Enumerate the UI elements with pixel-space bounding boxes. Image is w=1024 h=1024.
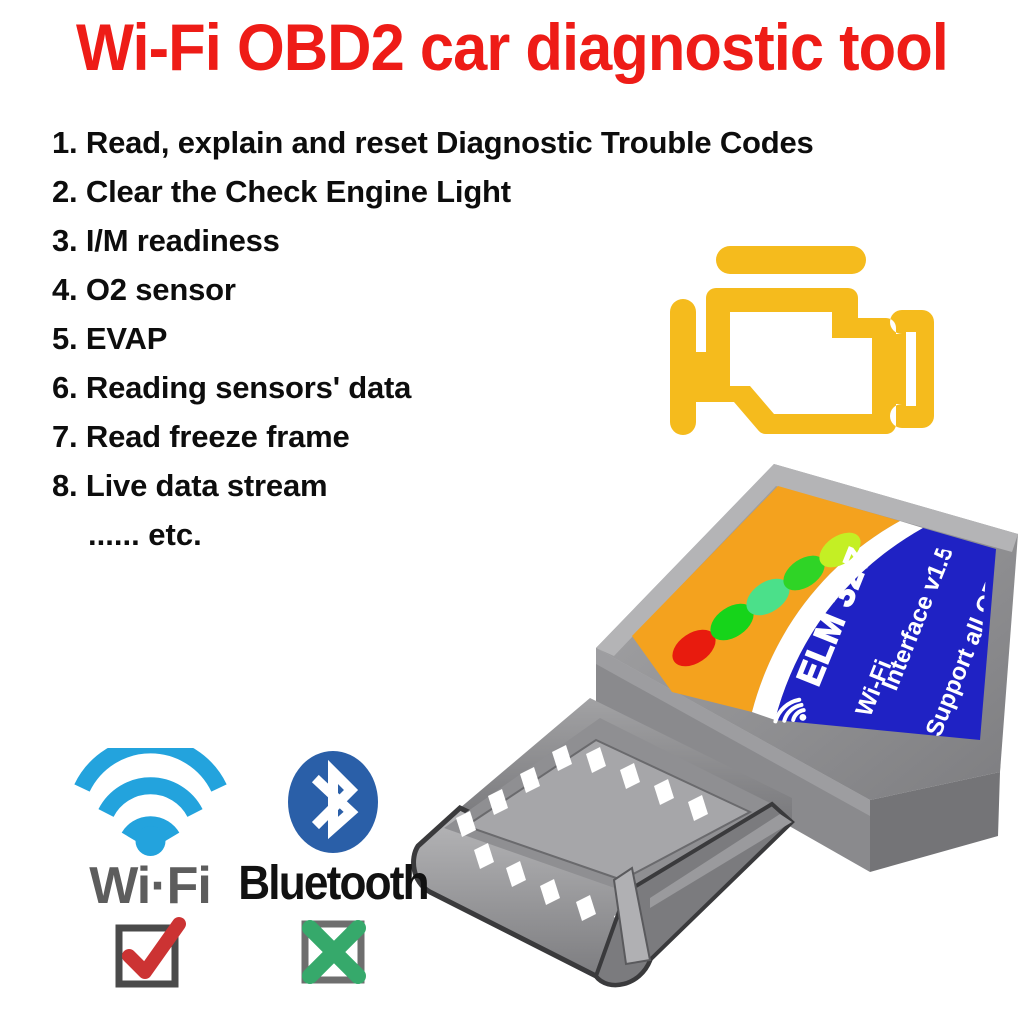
list-item-label: O2 sensor [86,272,236,307]
product-marketing-image: Wi-Fi OBD2 car diagnostic tool 1. Read, … [0,0,1024,1024]
check-mark-icon [40,916,260,994]
list-item-number: 1. [52,125,77,160]
bluetooth-label: Bluetooth [236,860,429,908]
cross-mark-icon [228,912,438,990]
wifi-supported-badge: Wi·Fi [40,748,260,994]
list-item: 6. Reading sensors' data [52,363,612,412]
page-title: Wi-Fi OBD2 car diagnostic tool [36,8,988,86]
elm327-obd2-wifi-adapter: ELM 327 Wi-Fi Interface v1.5 Support all… [400,440,1024,1024]
list-item-number: 7. [52,419,77,454]
list-item-label: Read freeze frame [86,419,350,454]
list-item: 1. Read, explain and reset Diagnostic Tr… [52,118,612,167]
list-item-number: 6. [52,370,77,405]
wifi-label: Wi·Fi [40,860,260,912]
list-item-number: 5. [52,321,77,356]
list-item-label: Read, explain and reset Diagnostic Troub… [86,125,814,160]
list-item-label: Reading sensors' data [86,370,411,405]
list-item-number: 2. [52,174,77,209]
list-item: 3. I/M readiness [52,216,612,265]
list-item: 5. EVAP [52,314,612,363]
list-item-number: 3. [52,223,77,258]
list-item: 2. Clear the Check Engine Light [52,167,612,216]
bluetooth-icon [228,748,438,860]
check-engine-light-icon [634,226,964,468]
list-item-label: I/M readiness [86,223,280,258]
list-item-label: Clear the Check Engine Light [86,174,511,209]
list-item-number: 8. [52,468,77,503]
list-item-label: EVAP [86,321,167,356]
wifi-signal-icon [40,748,260,860]
list-item-number: 4. [52,272,77,307]
list-item-label: Live data stream [86,468,327,503]
list-item: 4. O2 sensor [52,265,612,314]
bluetooth-unsupported-badge: Bluetooth [228,748,438,990]
